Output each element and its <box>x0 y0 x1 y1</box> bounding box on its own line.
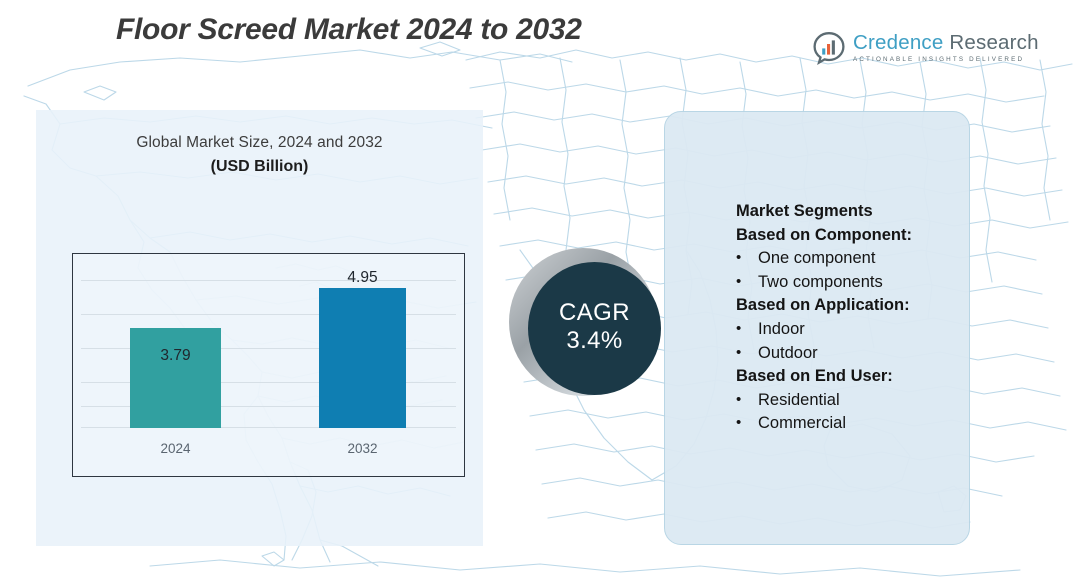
bar-2032 <box>319 288 406 428</box>
segment-item-commercial: • Commercial <box>736 412 976 436</box>
bullet-icon: • <box>736 271 758 295</box>
bar-chart: 3.79 2024 4.95 2032 <box>72 253 465 477</box>
bullet-icon: • <box>736 247 758 271</box>
bullet-icon: • <box>736 412 758 436</box>
segment-item-two-components: • Two components <box>736 271 976 295</box>
chart-heading: Global Market Size, 2024 and 2032 (USD B… <box>36 134 483 176</box>
x-axis-label-2024: 2024 <box>130 441 221 456</box>
segment-item-indoor: • Indoor <box>736 318 976 342</box>
x-axis-label-2032: 2032 <box>319 441 406 456</box>
segment-group-heading-component: Based on Component: <box>736 224 976 248</box>
segment-item-residential: • Residential <box>736 389 976 413</box>
page-title: Floor Screed Market 2024 to 2032 <box>116 13 582 47</box>
bullet-icon: • <box>736 318 758 342</box>
segments-title: Market Segments <box>736 200 976 224</box>
infographic-canvas: Floor Screed Market 2024 to 2032 Credenc… <box>0 0 1081 585</box>
segment-item-label: One component <box>758 247 875 271</box>
cagr-value: 3.4% <box>566 325 622 357</box>
logo-tagline: Actionable Insights Delivered <box>853 57 1039 63</box>
segment-item-label: Indoor <box>758 318 805 342</box>
bar-value-2032: 4.95 <box>319 269 406 287</box>
chart-heading-line1: Global Market Size, 2024 and 2032 <box>36 134 483 152</box>
segment-item-label: Outdoor <box>758 342 818 366</box>
chart-heading-line2: (USD Billion) <box>36 158 483 176</box>
segment-group-heading-end-user: Based on End User: <box>736 365 976 389</box>
bullet-icon: • <box>736 342 758 366</box>
logo-text-block: Credence Research Actionable Insights De… <box>853 33 1039 63</box>
segment-item-label: Commercial <box>758 412 846 436</box>
logo-name-primary: Credence <box>853 31 944 54</box>
bar-value-2024: 3.79 <box>130 347 221 365</box>
segment-item-outdoor: • Outdoor <box>736 342 976 366</box>
bullet-icon: • <box>736 389 758 413</box>
segment-group-heading-application: Based on Application: <box>736 294 976 318</box>
bar-chart-bubble-icon <box>812 31 846 65</box>
cagr-label: CAGR <box>559 300 630 325</box>
segment-item-one-component: • One component <box>736 247 976 271</box>
segment-item-label: Two components <box>758 271 883 295</box>
bar-2024 <box>130 328 221 428</box>
brand-logo: Credence Research Actionable Insights De… <box>812 27 990 69</box>
logo-name: Credence Research <box>853 33 1039 54</box>
cagr-badge: CAGR 3.4% <box>528 262 661 395</box>
chart-plot-area: 3.79 2024 4.95 2032 <box>73 254 464 476</box>
logo-name-secondary: Research <box>944 31 1039 54</box>
market-segments-content: Market Segments Based on Component: • On… <box>736 200 976 436</box>
segment-item-label: Residential <box>758 389 840 413</box>
